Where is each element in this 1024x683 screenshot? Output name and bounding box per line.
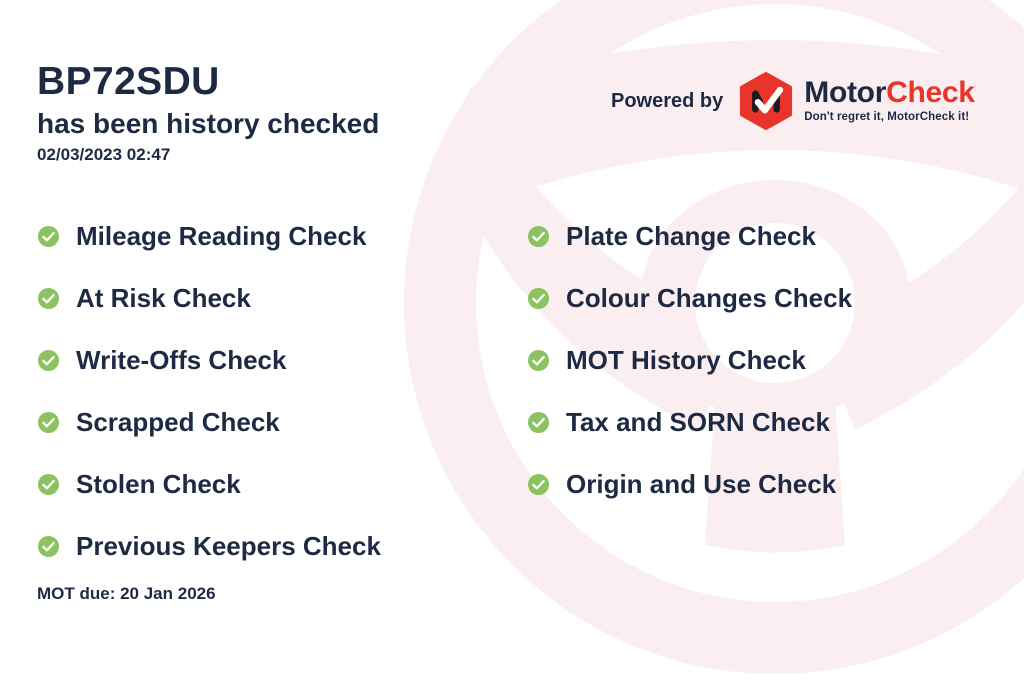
check-circle-icon bbox=[527, 349, 550, 372]
wordmark-check: Check bbox=[886, 76, 975, 109]
check-list-item: Scrapped Check bbox=[37, 391, 381, 453]
check-timestamp: 02/03/2023 02:47 bbox=[37, 145, 379, 165]
brand-tagline: Don't regret it, MotorCheck it! bbox=[804, 112, 974, 124]
check-circle-icon bbox=[37, 411, 60, 434]
check-label: At Risk Check bbox=[76, 285, 251, 311]
check-circle-icon bbox=[527, 287, 550, 310]
check-label: Origin and Use Check bbox=[566, 471, 836, 497]
check-list-item: MOT History Check bbox=[527, 329, 852, 391]
checklist-column-left: Mileage Reading Check At Risk Check Writ… bbox=[37, 205, 381, 577]
header-left: BP72SDU has been history checked 02/03/2… bbox=[37, 62, 379, 165]
motorcheck-logo[interactable]: MotorCheck Don't regret it, MotorCheck i… bbox=[737, 72, 974, 130]
check-label: Plate Change Check bbox=[566, 223, 816, 249]
check-circle-icon bbox=[527, 225, 550, 248]
powered-by-block: Powered by MotorCheck Don't regret it, M… bbox=[611, 72, 975, 130]
card-content: BP72SDU has been history checked 02/03/2… bbox=[0, 0, 1024, 683]
check-circle-icon bbox=[37, 225, 60, 248]
registration-plate: BP72SDU bbox=[37, 62, 379, 103]
check-list-item: Stolen Check bbox=[37, 453, 381, 515]
check-list-item: Write-Offs Check bbox=[37, 329, 381, 391]
check-circle-icon bbox=[527, 411, 550, 434]
check-circle-icon bbox=[37, 349, 60, 372]
check-circle-icon bbox=[37, 535, 60, 558]
vehicle-history-check-card: BP72SDU has been history checked 02/03/2… bbox=[0, 0, 1024, 683]
check-label: MOT History Check bbox=[566, 347, 806, 373]
check-label: Tax and SORN Check bbox=[566, 409, 830, 435]
wordmark-text: MotorCheck bbox=[804, 78, 974, 108]
check-label: Scrapped Check bbox=[76, 409, 280, 435]
powered-by-label: Powered by bbox=[611, 90, 723, 113]
mot-due-text: MOT due: 20 Jan 2026 bbox=[37, 584, 216, 604]
check-label: Previous Keepers Check bbox=[76, 533, 381, 559]
check-label: Mileage Reading Check bbox=[76, 223, 366, 249]
check-list-item: Tax and SORN Check bbox=[527, 391, 852, 453]
check-circle-icon bbox=[527, 473, 550, 496]
check-label: Stolen Check bbox=[76, 471, 241, 497]
check-list-item: Origin and Use Check bbox=[527, 453, 852, 515]
check-label: Colour Changes Check bbox=[566, 285, 852, 311]
wordmark-motor: Motor bbox=[804, 76, 886, 109]
check-circle-icon bbox=[37, 473, 60, 496]
motorcheck-wordmark: MotorCheck Don't regret it, MotorCheck i… bbox=[804, 78, 974, 124]
check-label: Write-Offs Check bbox=[76, 347, 286, 373]
check-list-item: Previous Keepers Check bbox=[37, 515, 381, 577]
motorcheck-hexagon-icon bbox=[737, 72, 795, 130]
page-title: has been history checked bbox=[37, 106, 379, 141]
check-list-item: Mileage Reading Check bbox=[37, 205, 381, 267]
check-list-item: At Risk Check bbox=[37, 267, 381, 329]
check-list-item: Colour Changes Check bbox=[527, 267, 852, 329]
check-circle-icon bbox=[37, 287, 60, 310]
check-list-item: Plate Change Check bbox=[527, 205, 852, 267]
checklist-column-right: Plate Change Check Colour Changes Check … bbox=[527, 205, 852, 515]
